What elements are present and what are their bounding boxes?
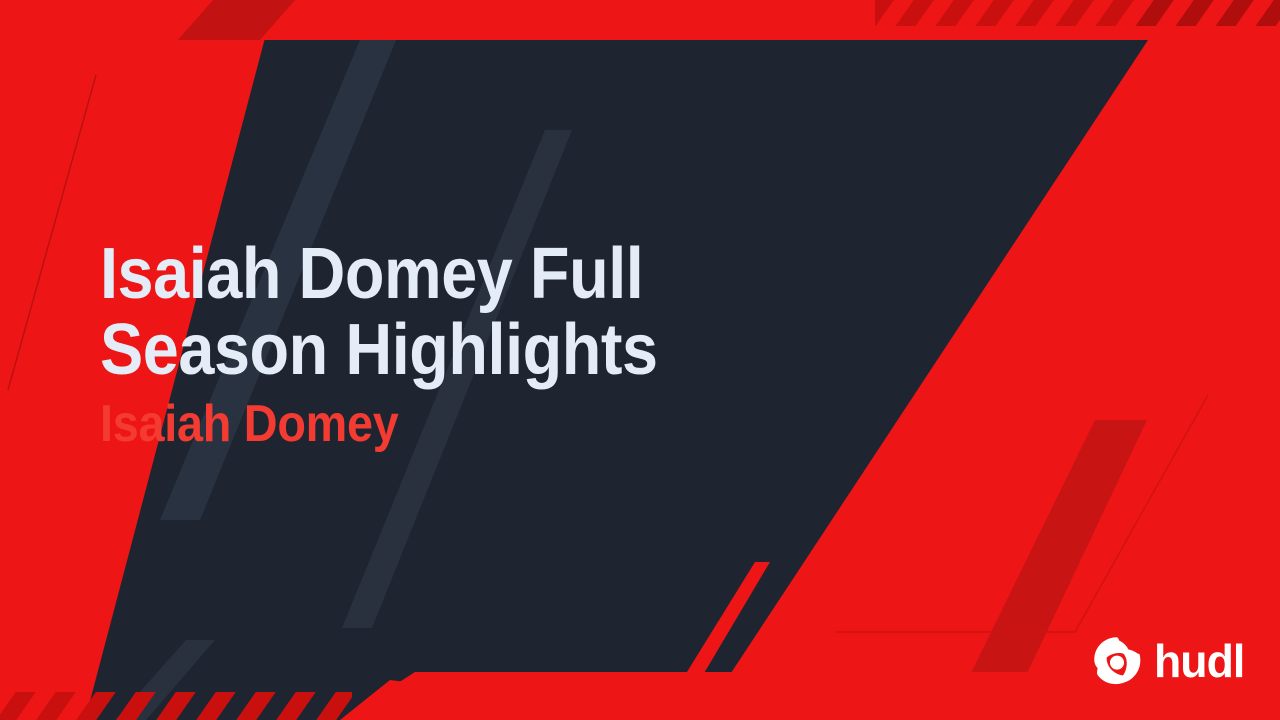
hudl-logo: hudl: [1090, 634, 1247, 688]
hudl-highlight-thumbnail: Isaiah Domey Full Season Highlights Isai…: [0, 0, 1280, 720]
hudl-logo-mark: [1090, 634, 1144, 688]
title-line-1: Isaiah Domey Full: [100, 236, 730, 312]
hudl-wordmark: hudl: [1154, 638, 1244, 684]
title-line-2: Season Highlights: [100, 312, 730, 388]
title-block: Isaiah Domey Full Season Highlights Isai…: [100, 236, 800, 452]
subtitle-athlete-name: Isaiah Domey: [100, 396, 730, 452]
